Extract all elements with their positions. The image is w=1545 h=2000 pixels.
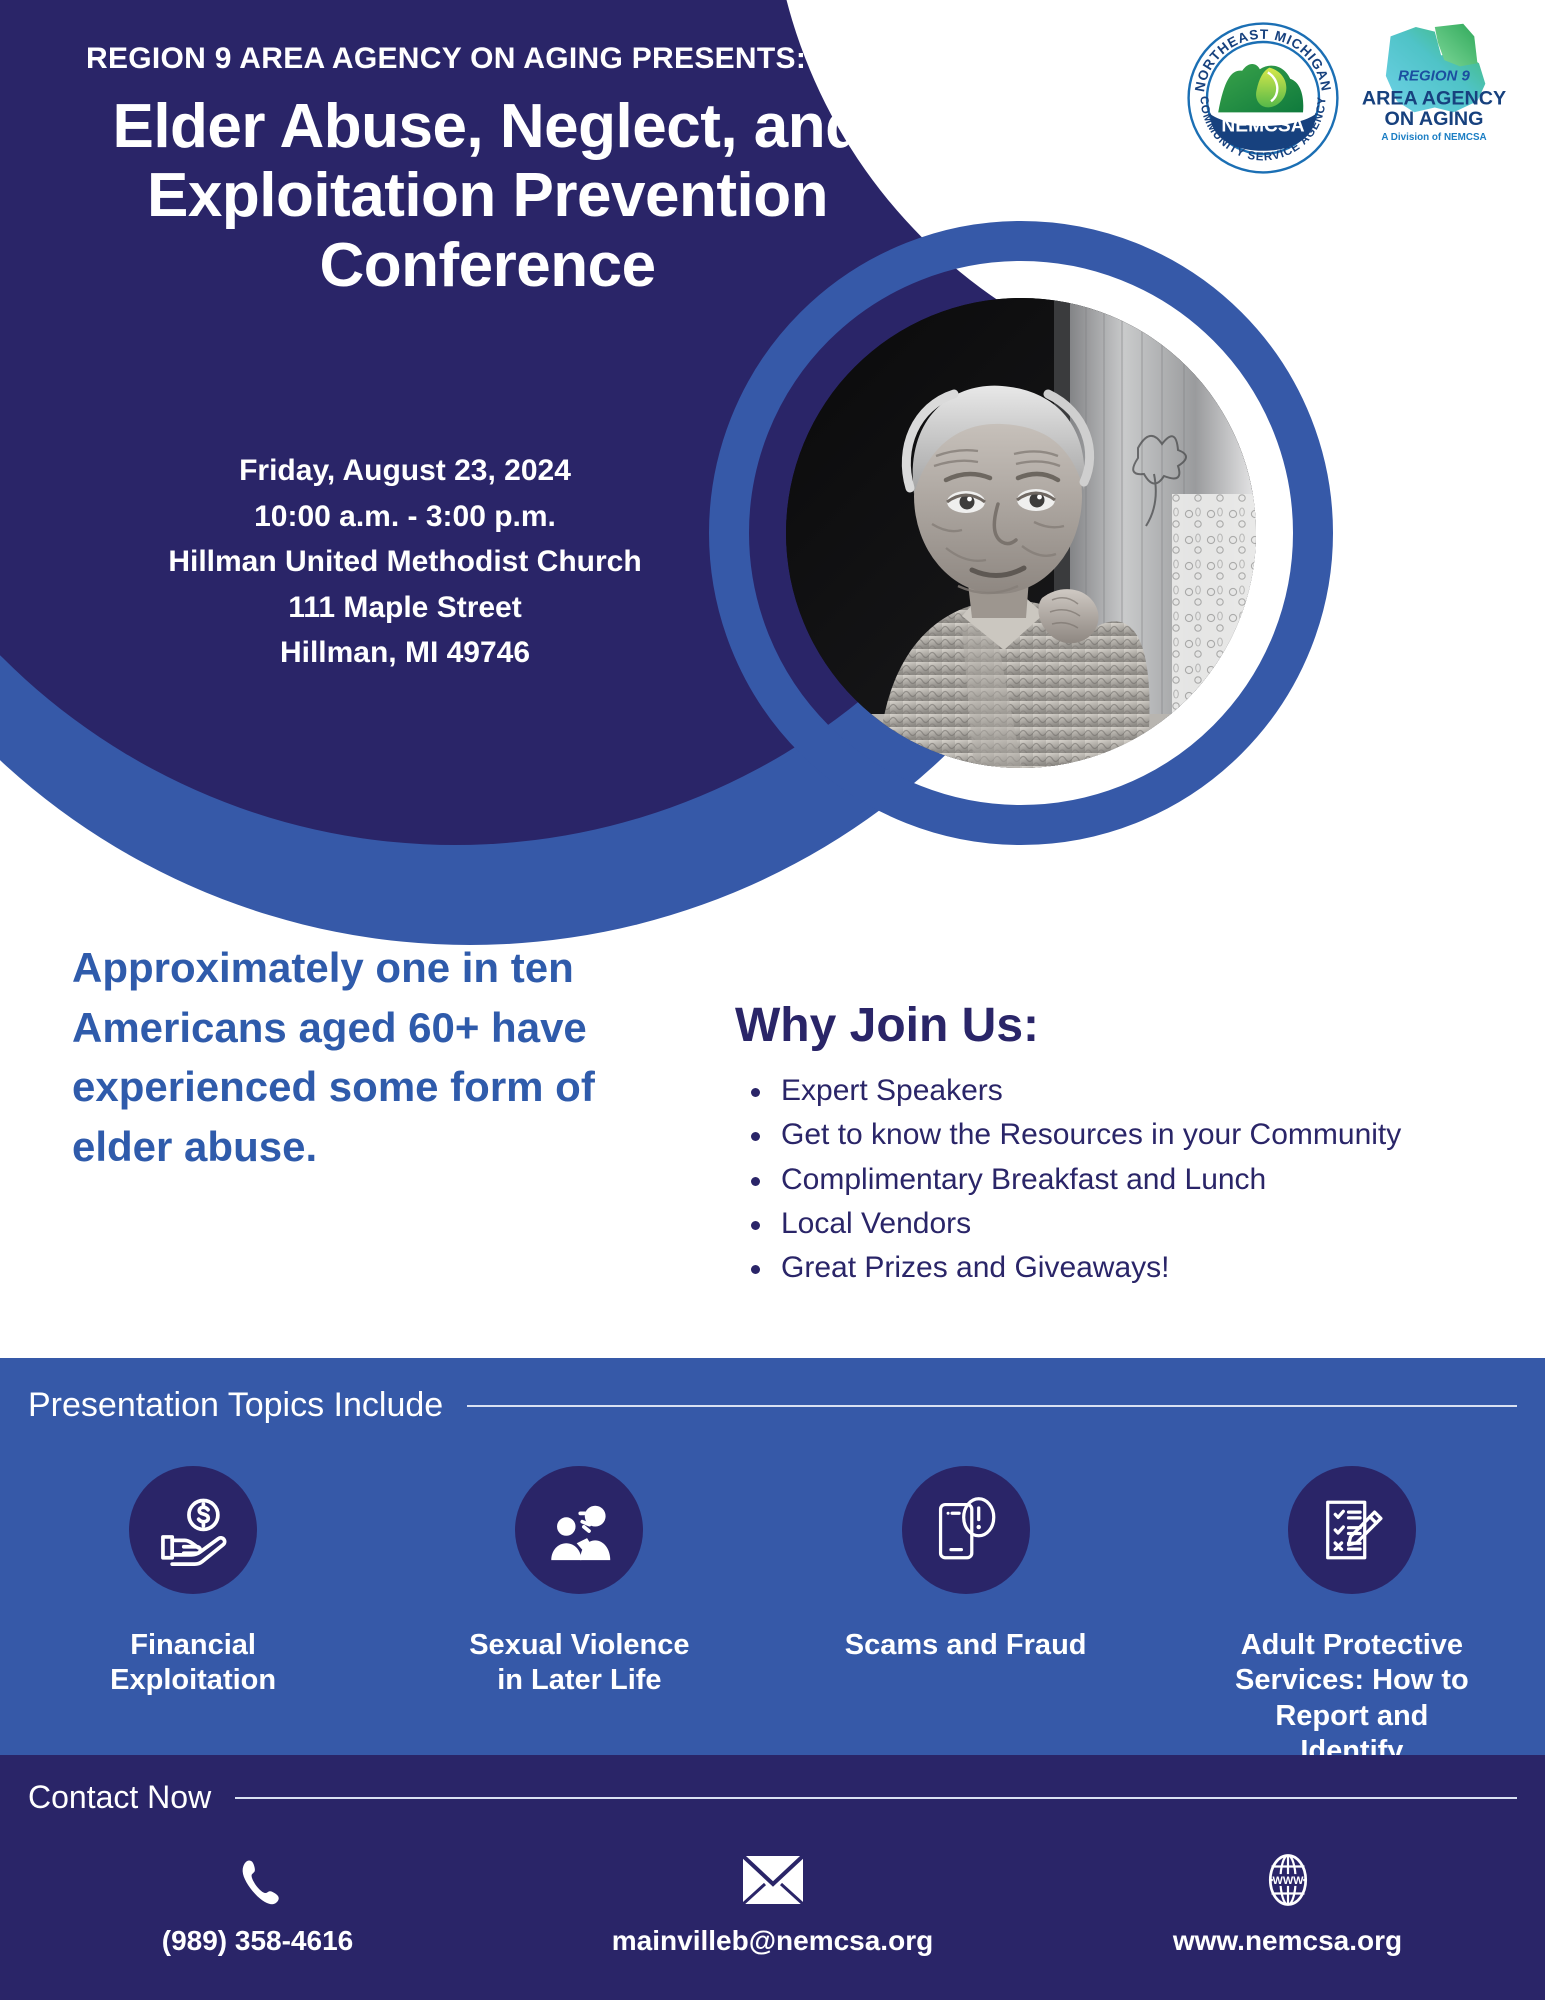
contact-section: Contact Now (989) 358-4616 [0,1755,1545,2000]
phone-icon [233,1851,283,1909]
why-join-us-list: Expert Speakers Get to know the Resource… [735,1069,1495,1291]
event-date: Friday, August 23, 2024 [60,448,750,494]
topic-scams-and-fraud: Scams and Fraud [773,1466,1159,1770]
hand-holding-dollar-icon [129,1466,257,1594]
list-item: Great Prizes and Giveaways! [777,1246,1495,1290]
contact-email[interactable]: mainvilleb@nemcsa.org [515,1851,1030,1957]
topic-label: Adult Protective Services: How to Report… [1227,1628,1477,1770]
website-url: www.nemcsa.org [1173,1925,1402,1957]
topics-header: Presentation Topics Include [28,1386,1517,1425]
portrait-illustration [786,298,1256,768]
two-people-confrontation-icon [515,1466,643,1594]
topic-financial-exploitation: Financial Exploitation [0,1466,386,1770]
phone-number: (989) 358-4616 [162,1925,353,1957]
why-join-us-title: Why Join Us: [735,1000,1495,1053]
svg-text:ON AGING: ON AGING [1385,108,1484,130]
topics-divider [467,1405,1517,1407]
region-9-area-agency-on-aging-logo: REGION 9 AREA AGENCY ON AGING A Division… [1359,18,1509,178]
page-title: Elder Abuse, Neglect, and Exploitation P… [60,92,915,300]
list-item: Get to know the Resources in your Commun… [777,1113,1495,1157]
svg-text:AREA AGENCY: AREA AGENCY [1362,87,1506,109]
event-street: 111 Maple Street [60,585,750,631]
presentation-topics-section: Presentation Topics Include Financi [0,1358,1545,1755]
svg-text:NEMCSA: NEMCSA [1221,116,1304,137]
contact-title: Contact Now [28,1779,211,1816]
flyer-page: NORTHEAST MICHIGAN COMMUNITY SERVICE AGE… [0,0,1545,2000]
topic-label: Scams and Fraud [841,1628,1091,1663]
contact-website[interactable]: WWW www.nemcsa.org [1030,1851,1545,1957]
email-address: mainvilleb@nemcsa.org [612,1925,933,1957]
event-time: 10:00 a.m. - 3:00 p.m. [60,494,750,540]
contact-phone[interactable]: (989) 358-4616 [0,1851,515,1957]
checklist-pencil-icon [1288,1466,1416,1594]
topic-label: Financial Exploitation [68,1628,318,1699]
phone-alert-icon [902,1466,1030,1594]
contact-row: (989) 358-4616 mainvilleb@nemcsa.org [0,1851,1545,1957]
svg-text:REGION 9: REGION 9 [1398,68,1470,85]
contact-header: Contact Now [28,1779,1517,1816]
event-venue: Hillman United Methodist Church [60,539,750,585]
topics-row: Financial Exploitation Sexual Vio [0,1466,1545,1770]
contact-divider [235,1797,1517,1799]
event-city-state-zip: Hillman, MI 49746 [60,630,750,676]
presenter-kicker: REGION 9 AREA AGENCY ON AGING PRESENTS: [86,42,806,76]
why-join-us-section: Why Join Us: Expert Speakers Get to know… [735,1000,1495,1291]
globe-www-icon: WWW [1261,1851,1315,1909]
topic-sexual-violence-in-later-life: Sexual Violence in Later Life [386,1466,772,1770]
topics-title: Presentation Topics Include [28,1386,443,1425]
logo-group: NORTHEAST MICHIGAN COMMUNITY SERVICE AGE… [1183,18,1509,178]
list-item: Local Vendors [777,1202,1495,1246]
nemcsa-logo: NORTHEAST MICHIGAN COMMUNITY SERVICE AGE… [1183,18,1343,178]
elderly-woman-photo [786,298,1256,768]
statistic-text: Approximately one in ten Americans aged … [72,938,632,1177]
topic-adult-protective-services: Adult Protective Services: How to Report… [1159,1466,1545,1770]
svg-text:WWW: WWW [1272,1875,1304,1887]
envelope-icon [741,1851,805,1909]
list-item: Complimentary Breakfast and Lunch [777,1158,1495,1202]
svg-text:A Division of NEMCSA: A Division of NEMCSA [1381,132,1486,143]
list-item: Expert Speakers [777,1069,1495,1113]
topic-label: Sexual Violence in Later Life [454,1628,704,1699]
event-details: Friday, August 23, 2024 10:00 a.m. - 3:0… [60,448,750,676]
